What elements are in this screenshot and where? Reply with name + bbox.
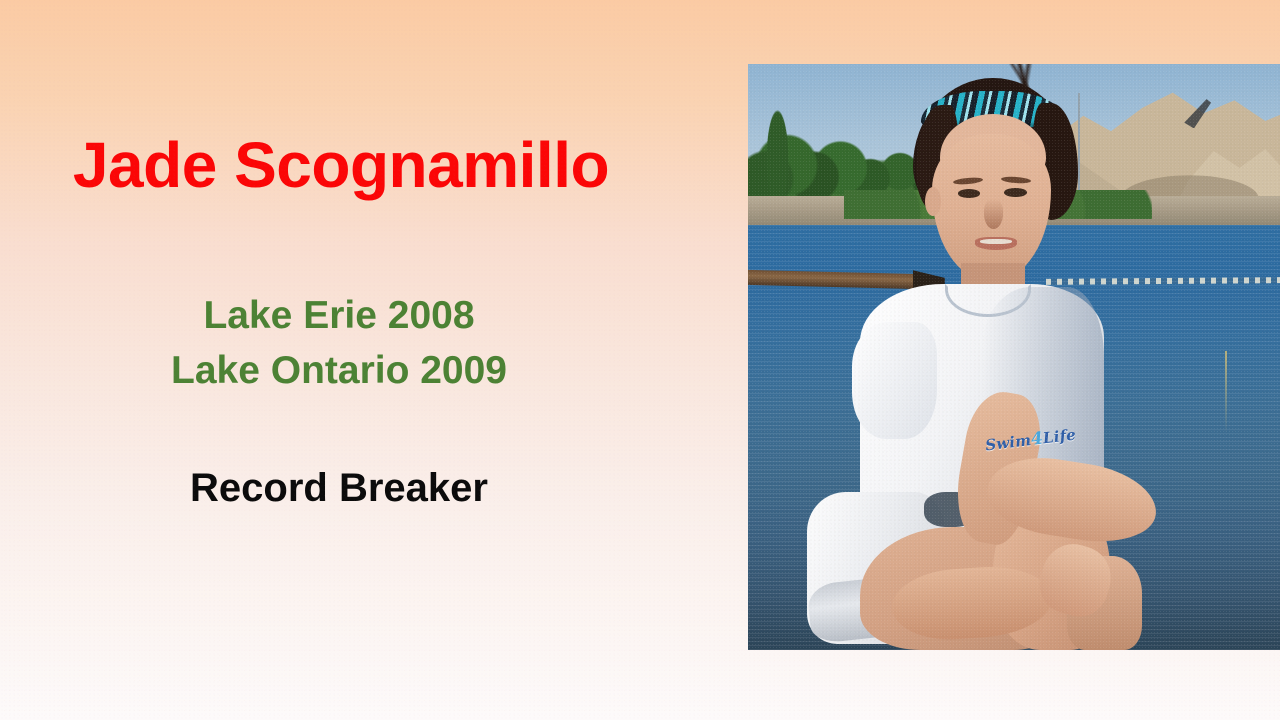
eye-right [1004,188,1026,197]
text-column: Jade Scognamillo Lake Erie 2008 Lake Ont… [0,0,740,720]
utility-pole-second [1078,93,1080,193]
shirt-logo-text-after: Life [1042,426,1077,448]
tall-tree [764,99,791,199]
slide-canvas: Jade Scognamillo Lake Erie 2008 Lake Ont… [0,0,1280,720]
teeth [980,239,1012,244]
subtitle-line-1: Lake Erie 2008 [0,288,678,343]
tshirt-sleeve [852,322,937,439]
ear [925,187,941,216]
slide-subtitle: Lake Erie 2008 Lake Ontario 2009 [0,288,740,399]
subtitle-line-2: Lake Ontario 2009 [0,343,678,398]
slide-title: Jade Scognamillo [0,132,740,199]
water-stake [1225,351,1227,433]
lake-photo: Swim4Life [748,64,1280,650]
nose [984,199,1003,229]
slide-tagline: Record Breaker [0,466,740,511]
